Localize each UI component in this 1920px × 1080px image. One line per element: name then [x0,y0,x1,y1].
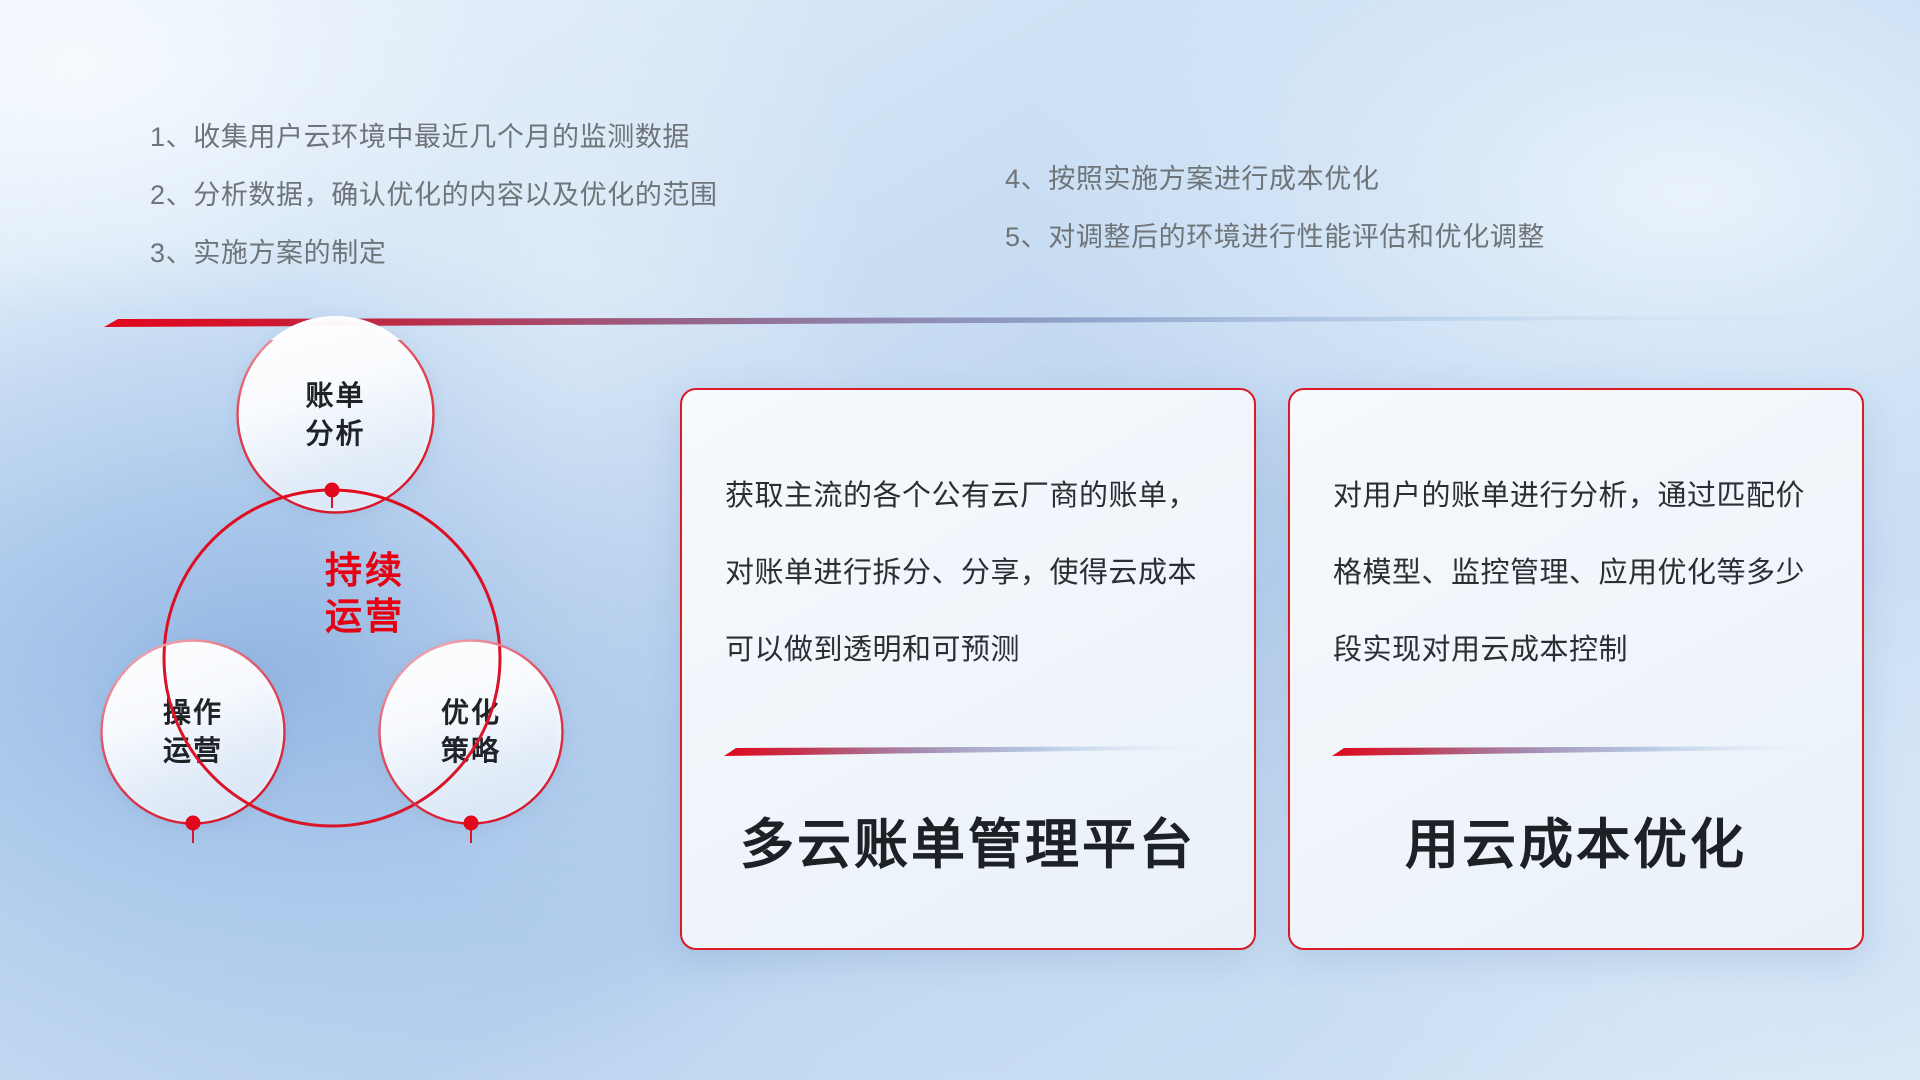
venn-ring-center [164,490,500,826]
step-item-2: 2、分析数据，确认优化的内容以及优化的范围 [150,166,718,224]
card2-title: 用云成本优化 [1290,800,1862,879]
venn-node-top [325,483,340,498]
steps-column-right: 4、按照实施方案进行成本优化 5、对调整后的环境进行性能评估和优化调整 [1005,150,1545,266]
step-item-3: 3、实施方案的制定 [150,224,718,282]
venn-ring-bottom-left [102,641,285,824]
card2-body-text: 对用户的账单进行分析，通过匹配价格模型、监控管理、应用优化等多少段实现对用云成本… [1333,458,1819,689]
venn-node-bottom-right [464,816,479,831]
venn-diagram: 账单 分析 操作 运营 优化 策略 持续 运营 [80,340,670,960]
card2-rule [1332,746,1822,757]
card1-body-text: 获取主流的各个公有云厂商的账单，对账单进行拆分、分享，使得云成本可以做到透明和可… [725,458,1211,689]
card-cloud-cost-optimization[interactable]: 对用户的账单进行分析，通过匹配价格模型、监控管理、应用优化等多少段实现对用云成本… [1288,388,1864,950]
venn-center-line1: 持续 [275,548,455,594]
card-multicloud-billing-platform[interactable]: 获取主流的各个公有云厂商的账单，对账单进行拆分、分享，使得云成本可以做到透明和可… [680,388,1256,950]
venn-ring-bottom-right [380,641,563,824]
steps-list: 1、收集用户云环境中最近几个月的监测数据 2、分析数据，确认优化的内容以及优化的… [0,0,1920,300]
steps-column-left: 1、收集用户云环境中最近几个月的监测数据 2、分析数据，确认优化的内容以及优化的… [150,108,718,282]
step-item-1: 1、收集用户云环境中最近几个月的监测数据 [150,108,718,166]
card1-title: 多云账单管理平台 [682,800,1254,879]
venn-center-label: 持续 运营 [275,548,455,640]
card1-rule [724,746,1214,757]
venn-rings [80,340,670,960]
step-item-5: 5、对调整后的环境进行性能评估和优化调整 [1005,208,1545,266]
step-item-4: 4、按照实施方案进行成本优化 [1005,150,1545,208]
venn-node-bottom-left [186,816,201,831]
venn-center-line2: 运营 [275,594,455,640]
